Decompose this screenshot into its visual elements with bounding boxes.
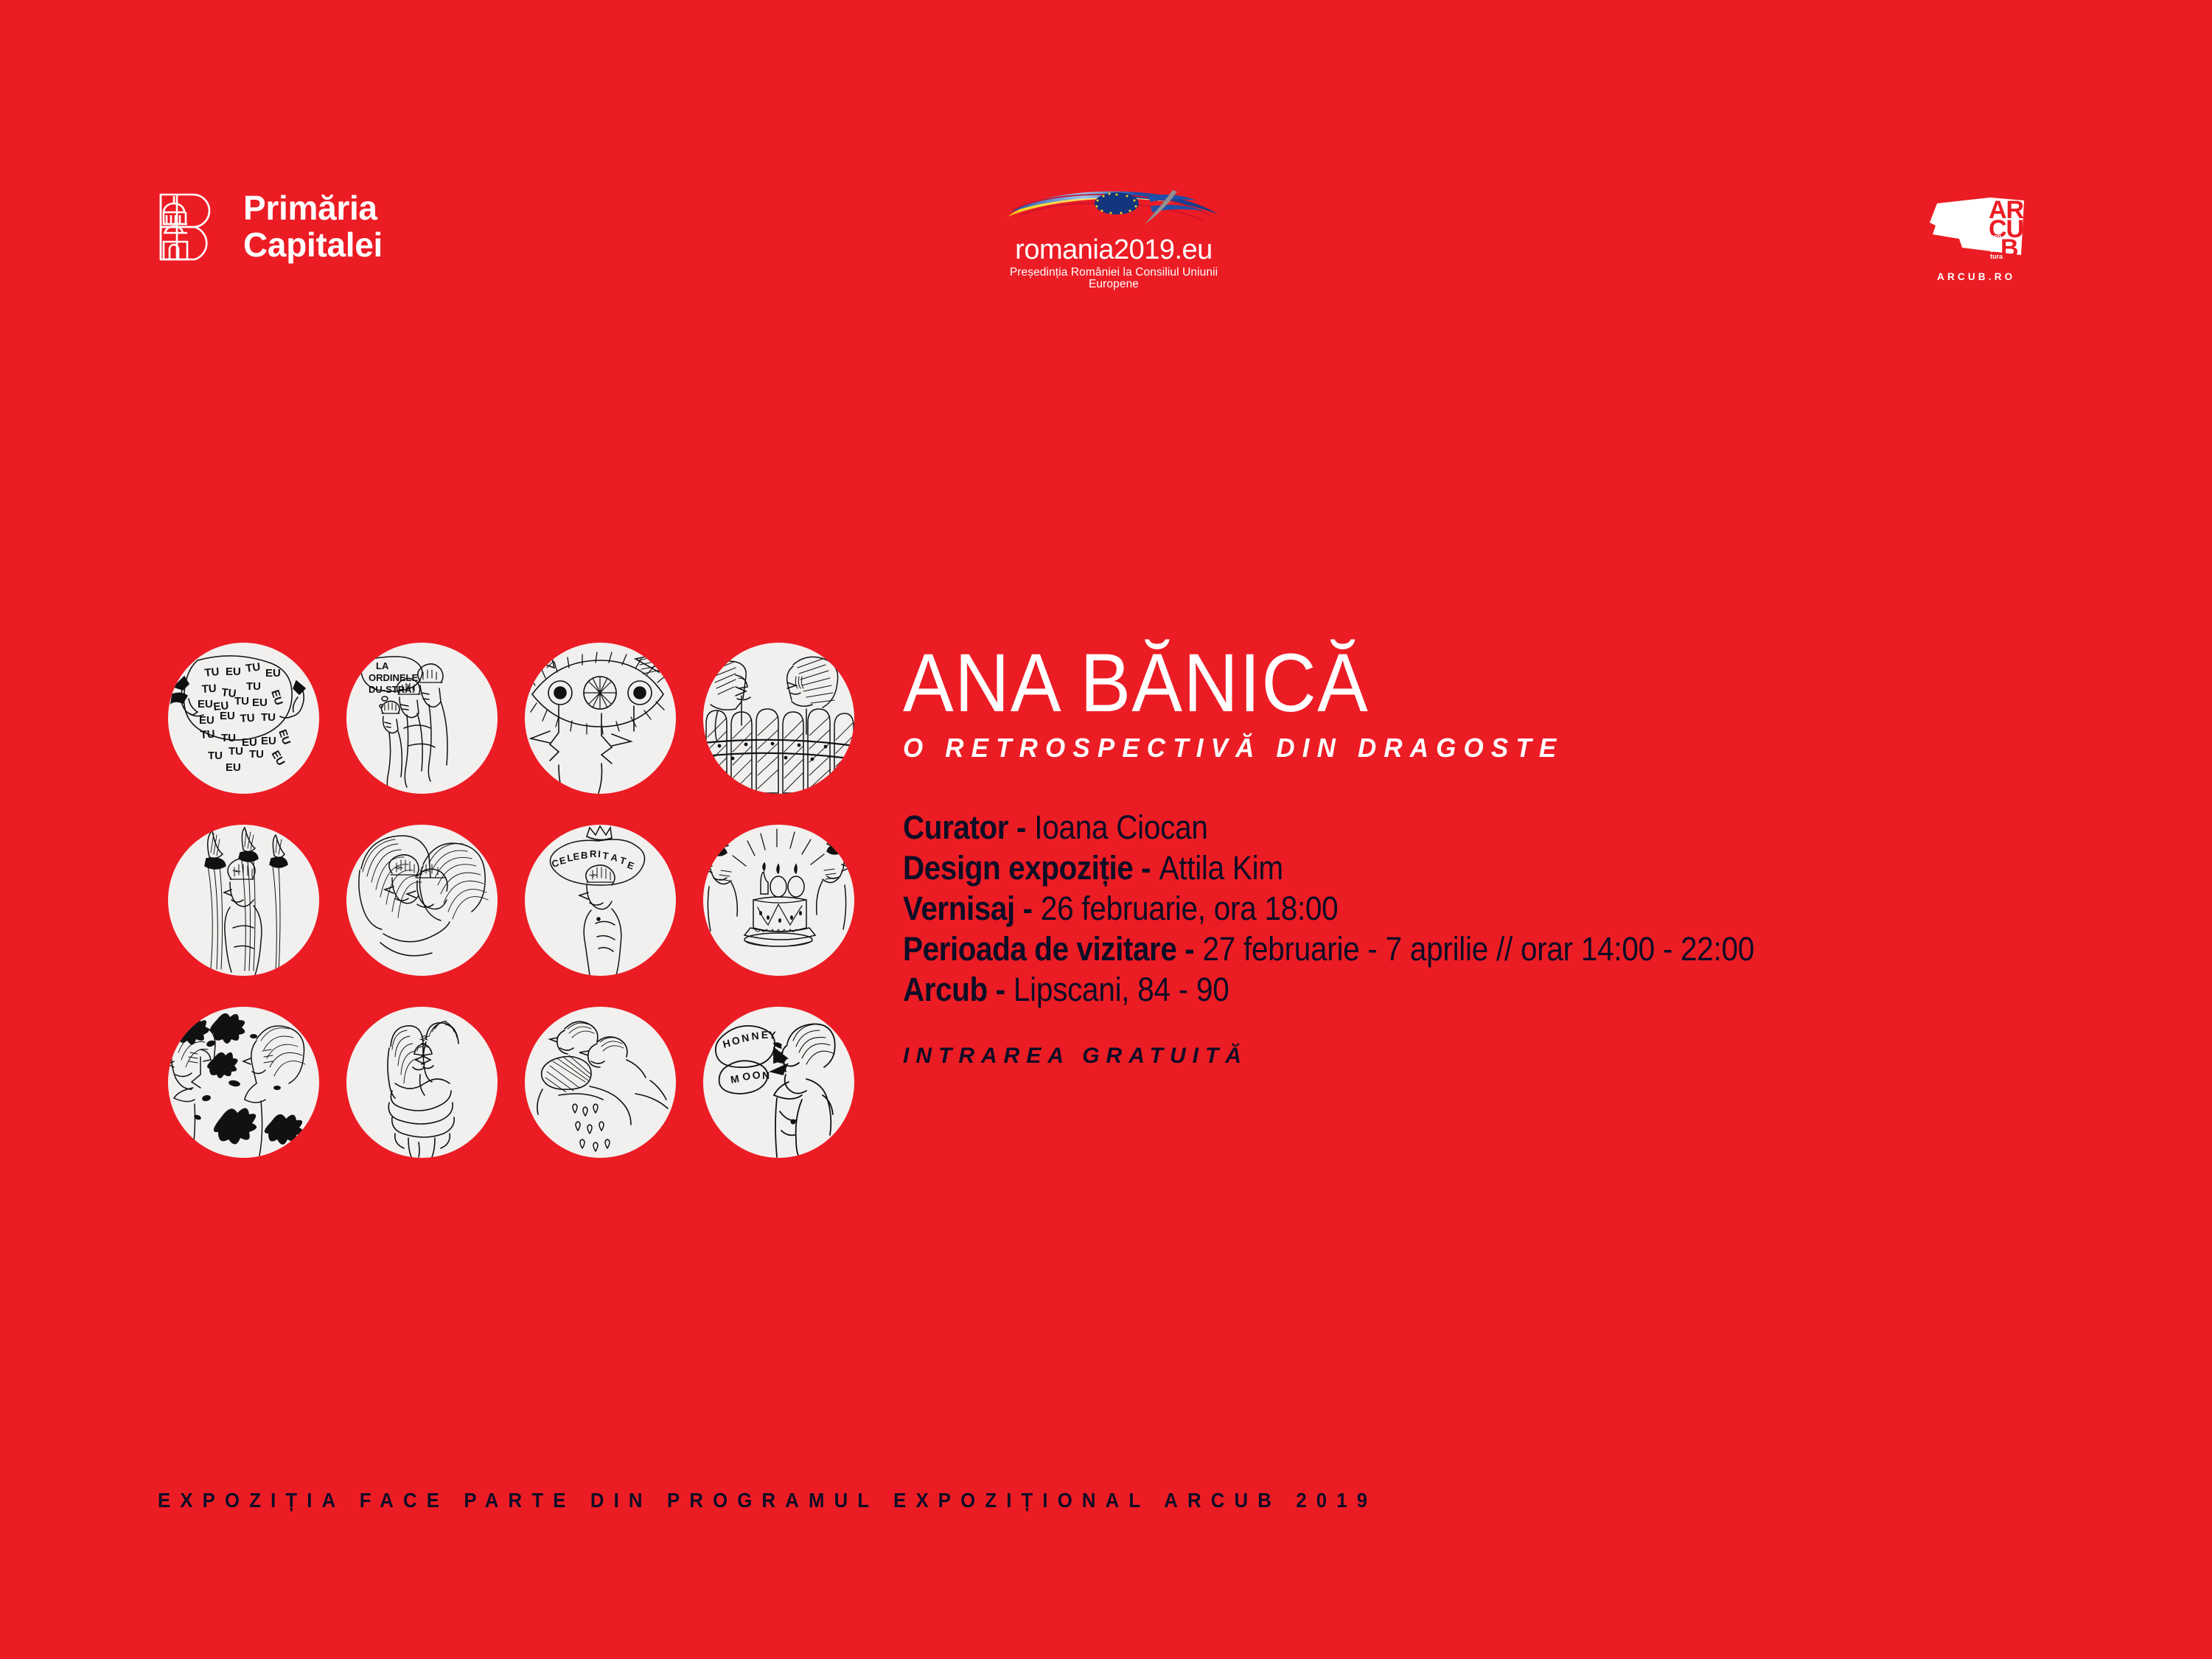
detail-row-perioada: Perioada de vizitare - 27 februarie - 7 … [903,929,2044,970]
svg-text:EU: EU [265,667,281,680]
svg-text:TU: TU [245,660,261,675]
arcub-url-label: ARCUB.RO [1927,271,2074,282]
detail-label: Arcub - [903,971,1005,1008]
artwork-circle-two-faces-speech-bubble-tu-eu: TU EU TU EU TU TU TU EU EU EU TU EU EU E… [168,643,319,794]
artwork-circle-figure-with-honney-moon-bubbles: H O N N E Y M O O N [703,1007,854,1158]
svg-text:EU: EU [268,688,285,707]
detail-value: 27 februarie - 7 aprilie // orar 14:00 -… [1203,930,1755,968]
exhibition-details: Curator - Ioana Ciocan Design expoziție … [903,808,2171,1069]
arcub-polygon-logo-icon: AR CU B cen tru cul tura [1927,193,2058,261]
page-subtitle: O RETROSPECTIVĂ DIN DRAGOSTE [903,733,2118,764]
svg-text:EU: EU [220,710,235,722]
logo-arcub: AR CU B cen tru cul tura ARCUB.RO [1927,193,2074,282]
svg-text:R: R [590,848,597,859]
artwork-circle-birthday-cake-100-candles-two-faces [703,825,854,976]
artwork-circle-two-long-haired-faces-kissing [346,825,498,976]
detail-label: Perioada de vizitare - [903,930,1194,968]
svg-text:TU: TU [204,666,220,680]
logo-romania2019: romania2019.eu Președinția României la C… [992,190,1235,290]
svg-text:TU: TU [201,682,217,696]
svg-text:Y: Y [769,1029,777,1041]
artwork-circle-grid: TU EU TU EU TU TU TU EU EU EU TU EU EU E… [168,643,855,1159]
detail-row-vernisaj: Vernisaj - 26 februarie, ora 18:00 [903,889,2044,929]
logo-primaria-capitalei: Primăria Capitalei [156,190,383,264]
detail-row-arcub: Arcub - Lipscani, 84 - 90 [903,970,2044,1010]
poster-canvas: Primăria Capitalei [0,0,2212,1659]
artwork-circle-profile-faces-with-giant-eye [525,643,676,794]
detail-value: Lipscani, 84 - 90 [1013,971,1229,1008]
svg-text:EU: EU [276,728,293,747]
artwork-circle-crowned-figure-celebritate-bubble: C E L E B R I T A T E [525,825,676,976]
svg-text:EU: EU [269,749,287,769]
svg-text:E: E [573,851,581,862]
svg-text:T: T [618,854,627,867]
svg-text:EU: EU [198,698,213,710]
svg-text:N: N [751,1030,760,1042]
svg-text:EU: EU [252,696,268,709]
artwork-circle-couple-embracing-intertwined [346,1007,498,1158]
svg-text:TU: TU [246,680,261,693]
svg-text:H: H [722,1037,732,1050]
svg-text:B: B [581,850,587,861]
svg-text:TU: TU [200,728,215,741]
free-entry-note: INTRAREA GRATUITĂ [903,1044,2171,1069]
detail-value: 26 februarie, ora 18:00 [1041,890,1339,927]
svg-text:M: M [730,1072,740,1086]
detail-label: Curator - [903,808,1026,846]
svg-text:EU: EU [242,736,257,749]
detail-value: Ioana Ciocan [1034,808,1207,846]
svg-text:T: T [602,850,610,862]
detail-label: Design expoziție - [903,849,1151,887]
detail-value: Attila Kim [1159,849,1283,887]
svg-text:TU: TU [249,748,264,761]
svg-text:E: E [761,1029,769,1041]
svg-text:EU: EU [226,666,241,678]
svg-text:E: E [559,854,568,867]
headline-block: ANA BĂNICĂ O RETROSPECTIVĂ DIN DRAGOSTE [903,643,2156,764]
svg-text:A: A [610,851,619,864]
svg-text:O: O [752,1069,761,1081]
svg-text:I: I [598,848,601,859]
artwork-circle-two-faces-with-ink-splatters [168,1007,319,1158]
svg-text:LA: LA [376,660,389,671]
primaria-b-building-logo-icon [156,190,224,264]
artwork-circle-three-figures-thought-bubble: LA ORDINELE DU-STRĂ! [346,643,498,794]
footer-programme-note: EXPOZIȚIA FACE PARTE DIN PROGRAMUL EXPOZ… [158,1489,1377,1512]
romania-main-label: romania2019.eu [992,236,1235,264]
svg-text:E: E [626,859,636,872]
romania-sub-label: Președinția României la Consiliul Uniuni… [992,267,1235,290]
svg-text:N: N [741,1031,750,1044]
page-title: ANA BĂNICĂ [903,643,2056,724]
svg-text:TU: TU [240,712,255,725]
eu-flag-swoosh-icon [1003,190,1224,231]
svg-text:EU: EU [199,714,214,727]
svg-text:tura: tura [1990,253,2003,260]
svg-text:B: B [2000,234,2019,261]
svg-text:O: O [730,1034,741,1047]
artwork-circle-two-faces-separated-by-fence [703,643,854,794]
svg-text:TU: TU [208,750,223,762]
svg-text:EU: EU [226,761,241,774]
detail-row-curator: Curator - Ioana Ciocan [903,808,2044,848]
artwork-circle-figure-among-tall-brushes [168,825,319,976]
svg-text:ORDINELE: ORDINELE [369,672,419,683]
primaria-wordmark: Primăria Capitalei [243,190,383,263]
svg-text:DU-STRĂ!: DU-STRĂ! [369,684,415,695]
svg-text:O: O [742,1070,751,1083]
artwork-circle-reclining-kissing-faces-with-tears [525,1007,676,1158]
detail-row-design: Design expoziție - Attila Kim [903,848,2044,889]
detail-label: Vernisaj - [903,890,1033,927]
svg-text:TU: TU [261,711,276,724]
svg-text:TU: TU [221,732,236,744]
svg-text:N: N [762,1069,770,1081]
svg-text:TU: TU [234,695,249,708]
svg-text:TU: TU [228,745,243,758]
svg-text:EU: EU [261,735,276,747]
